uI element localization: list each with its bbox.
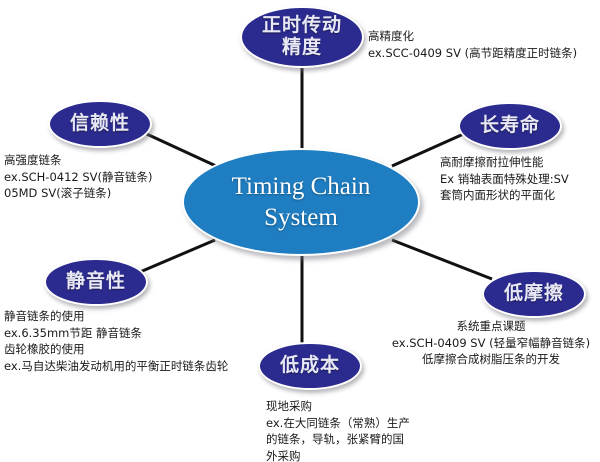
desc-precision: 高精度化 ex.SCC-0409 SV (高节距精度正时链条) xyxy=(368,28,598,61)
connector-center-to-quietness xyxy=(140,240,215,272)
node-low-friction[interactable]: 低摩擦 xyxy=(482,270,586,318)
desc-quietness: 静音链条的使用 ex.6.35mm节距 静音链条 齿轮橡胶的使用 ex.马自达柴… xyxy=(4,308,294,375)
desc-low-cost: 现地采购 ex.在大同链条（常熟）生产 的链条，导轨，张紧臂的国 外采购 xyxy=(266,398,456,462)
connector-center-to-low-friction xyxy=(392,240,492,279)
node-quietness[interactable]: 静音性 xyxy=(44,258,148,306)
center-label-line2: System xyxy=(232,202,371,233)
desc-low-friction: 系统重点课题 ex.SCH-0409 SV (轻量窄幅静音链条) 低摩擦合成树脂… xyxy=(382,318,600,368)
desc-reliability: 高强度链条 ex.SCH-0412 SV(静音链条) 05MD SV(滚子链条) xyxy=(4,152,184,202)
node-center-timing-chain-system[interactable]: Timing Chain System xyxy=(182,148,420,256)
node-low-cost[interactable]: 低成本 xyxy=(258,342,362,390)
desc-long-life: 高耐摩擦耐拉伸性能 Ex 销轴表面特殊处理:SV 套筒内面形状的平面化 xyxy=(440,154,600,204)
node-reliability[interactable]: 信赖性 xyxy=(48,100,152,148)
diagram-canvas: Timing Chain System 正时传动 精度 高精度化 ex.SCC-… xyxy=(0,0,600,462)
node-long-life[interactable]: 长寿命 xyxy=(458,102,562,150)
center-label-line1: Timing Chain xyxy=(232,171,371,202)
node-precision[interactable]: 正时传动 精度 xyxy=(240,6,364,68)
